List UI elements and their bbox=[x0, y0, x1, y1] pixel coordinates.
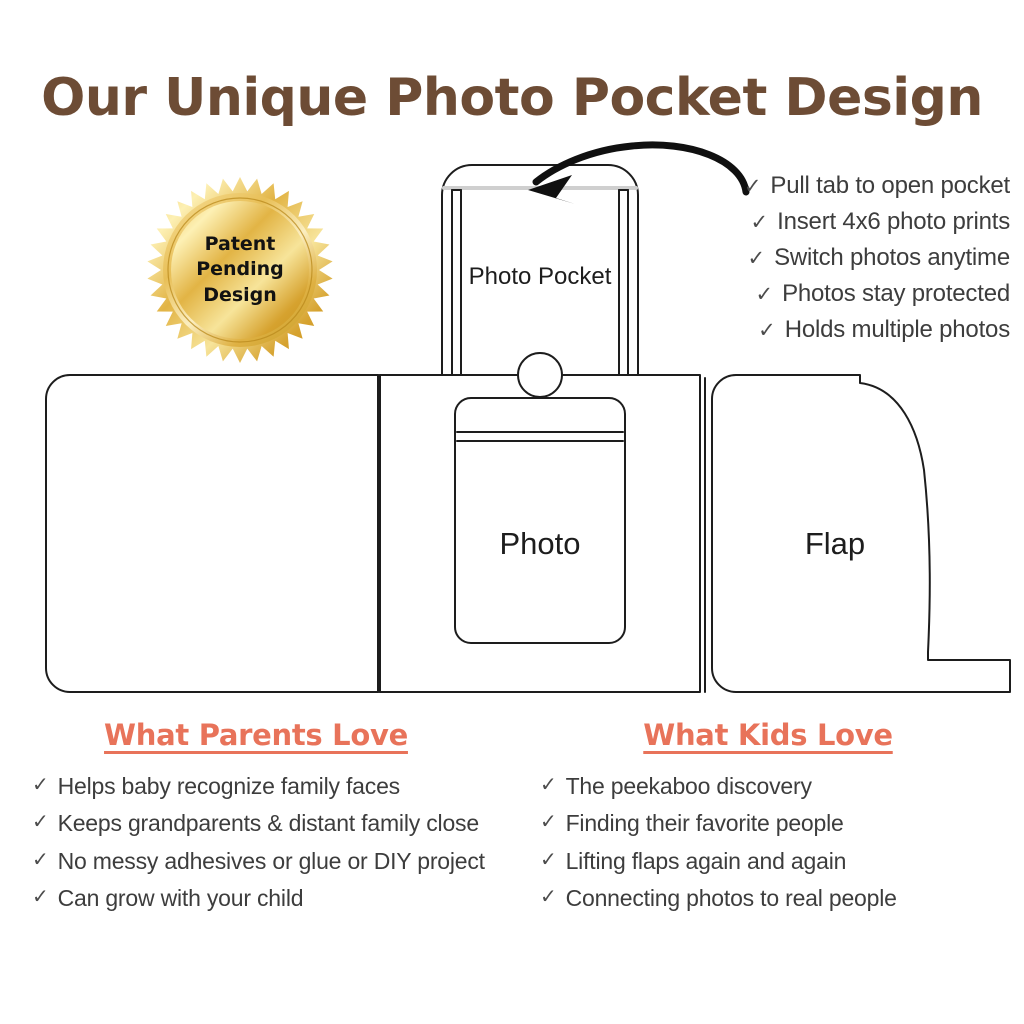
parents-item-label: Helps baby recognize family faces bbox=[58, 768, 498, 805]
feature-item: ✓ Pull tab to open pocket bbox=[660, 172, 1010, 208]
kids-item-label: Lifting flaps again and again bbox=[566, 843, 1010, 880]
photo-label: Photo bbox=[455, 526, 625, 562]
check-icon: ✓ bbox=[751, 212, 769, 233]
check-icon: ✓ bbox=[755, 284, 773, 305]
check-icon: ✓ bbox=[32, 805, 49, 839]
feature-item: ✓ Holds multiple photos bbox=[660, 316, 1010, 352]
kids-heading: What Kids Love bbox=[526, 718, 1010, 752]
kids-column: What Kids Love ✓ The peekaboo discovery … bbox=[512, 718, 1024, 917]
parents-column: What Parents Love ✓ Helps baby recognize… bbox=[0, 718, 512, 917]
kids-item-label: The peekaboo discovery bbox=[566, 768, 1010, 805]
kids-item-label: Finding their favorite people bbox=[566, 805, 1010, 842]
kids-item: ✓ Lifting flaps again and again bbox=[526, 843, 1010, 880]
check-icon: ✓ bbox=[32, 880, 49, 914]
benefit-columns: What Parents Love ✓ Helps baby recognize… bbox=[0, 718, 1024, 917]
kids-item: ✓ The peekaboo discovery bbox=[526, 768, 1010, 805]
check-icon: ✓ bbox=[758, 320, 776, 341]
parents-item-label: Keeps grandparents & distant family clos… bbox=[58, 805, 498, 842]
parents-item: ✓ Keeps grandparents & distant family cl… bbox=[14, 805, 498, 842]
parents-heading: What Parents Love bbox=[14, 718, 498, 752]
feature-label: Photos stay protected bbox=[782, 280, 1010, 308]
feature-item: ✓ Insert 4x6 photo prints bbox=[660, 208, 1010, 244]
check-icon: ✓ bbox=[744, 176, 762, 197]
feature-label: Insert 4x6 photo prints bbox=[777, 208, 1010, 236]
parents-item: ✓ Helps baby recognize family faces bbox=[14, 768, 498, 805]
kids-item: ✓ Finding their favorite people bbox=[526, 805, 1010, 842]
kids-item-label: Connecting photos to real people bbox=[566, 880, 1010, 917]
photo-pocket-label: Photo Pocket bbox=[440, 263, 640, 291]
feature-label: Pull tab to open pocket bbox=[770, 172, 1010, 200]
left-panel-outline bbox=[46, 375, 378, 692]
infographic-root: Our Unique Photo Pocket Design bbox=[0, 0, 1024, 1024]
check-icon: ✓ bbox=[540, 843, 557, 877]
photo-card-outline bbox=[455, 398, 625, 643]
check-icon: ✓ bbox=[540, 805, 557, 839]
check-icon: ✓ bbox=[540, 880, 557, 914]
check-icon: ✓ bbox=[747, 248, 765, 269]
parents-item: ✓ Can grow with your child bbox=[14, 880, 498, 917]
check-icon: ✓ bbox=[32, 768, 49, 802]
feature-list: ✓ Pull tab to open pocket ✓ Insert 4x6 p… bbox=[660, 172, 1010, 352]
parents-item-label: No messy adhesives or glue or DIY projec… bbox=[58, 843, 498, 880]
check-icon: ✓ bbox=[32, 843, 49, 877]
parents-item: ✓ No messy adhesives or glue or DIY proj… bbox=[14, 843, 498, 880]
feature-label: Switch photos anytime bbox=[774, 244, 1010, 272]
feature-label: Holds multiple photos bbox=[785, 316, 1010, 344]
flap-label: Flap bbox=[745, 526, 925, 562]
check-icon: ✓ bbox=[540, 768, 557, 802]
feature-item: ✓ Switch photos anytime bbox=[660, 244, 1010, 280]
feature-item: ✓ Photos stay protected bbox=[660, 280, 1010, 316]
parents-item-label: Can grow with your child bbox=[58, 880, 498, 917]
kids-item: ✓ Connecting photos to real people bbox=[526, 880, 1010, 917]
